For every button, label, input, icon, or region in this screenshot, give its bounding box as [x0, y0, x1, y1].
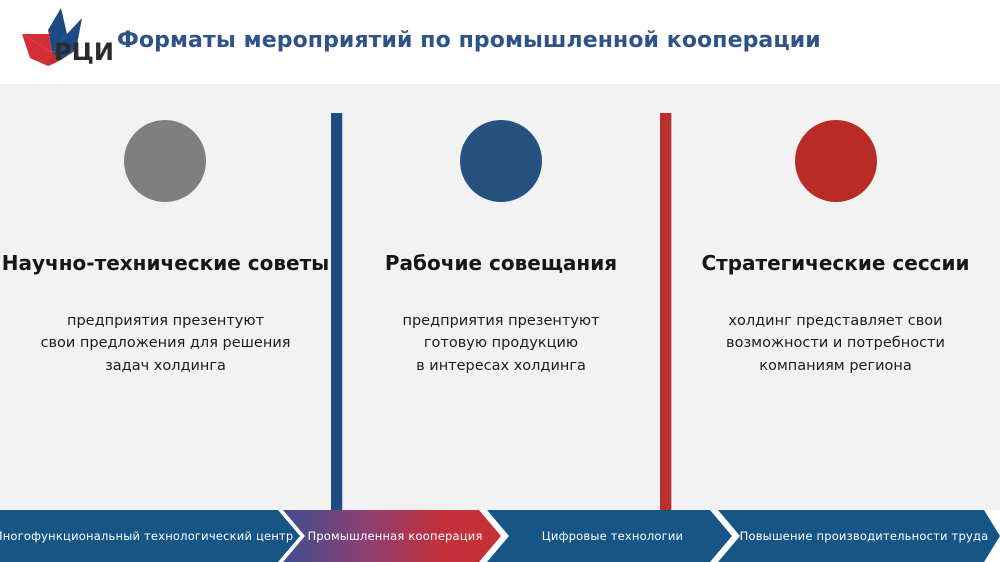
- description-line: в интересах холдинга: [342, 355, 660, 377]
- description-line: возможности и потребности: [671, 332, 1000, 354]
- description-line: компаниям региона: [671, 355, 1000, 377]
- circle-marker-blue: [460, 120, 542, 202]
- nav-chevron-label: Промышленная кооперация: [307, 529, 482, 543]
- description-line: холдинг представляет свои: [671, 310, 1000, 332]
- logo-text-rci: РЦИ: [54, 38, 112, 66]
- column-description: предприятия презентуют готовую продукцию…: [342, 310, 660, 377]
- nav-chevron-multifunctional-tech-center[interactable]: Многофункциональный технологический цент…: [0, 510, 300, 562]
- slide-header: РЦИ Форматы мероприятий по промышленной …: [0, 0, 1000, 84]
- column-description: предприятия презентуют свои предложения …: [0, 310, 331, 377]
- page-title: Форматы мероприятий по промышленной кооп…: [117, 28, 821, 53]
- description-line: свои предложения для решения: [0, 332, 331, 354]
- description-line: задач холдинга: [0, 355, 331, 377]
- nav-chevron-digital-technologies[interactable]: Цифровые технологии: [487, 510, 732, 562]
- description-line: готовую продукцию: [342, 332, 660, 354]
- circle-marker-red: [795, 120, 877, 202]
- column-title: Рабочие совещания: [342, 251, 660, 275]
- column-scientific-technical-councils: Научно-технические советы предприятия пр…: [0, 84, 331, 510]
- column-strategic-sessions: Стратегические сессии холдинг представля…: [671, 84, 1000, 510]
- nav-chevron-industrial-cooperation[interactable]: Промышленная кооперация: [283, 510, 501, 562]
- nav-chevron-label: Повышение производительности труда: [740, 529, 989, 543]
- slide-root: РЦИ Форматы мероприятий по промышленной …: [0, 0, 1000, 562]
- content-panel: Научно-технические советы предприятия пр…: [0, 84, 1000, 510]
- column-title: Стратегические сессии: [671, 251, 1000, 275]
- bottom-chevron-nav: Многофункциональный технологический цент…: [0, 510, 1000, 562]
- description-line: предприятия презентуют: [0, 310, 331, 332]
- nav-chevron-labor-productivity[interactable]: Повышение производительности труда: [718, 510, 1000, 562]
- nav-chevron-label: Многофункциональный технологический цент…: [0, 529, 293, 543]
- column-description: холдинг представляет свои возможности и …: [671, 310, 1000, 377]
- column-title: Научно-технические советы: [0, 251, 331, 275]
- column-working-meetings: Рабочие совещания предприятия презентуют…: [342, 84, 660, 510]
- star-logo-icon: РЦИ: [8, 4, 112, 76]
- circle-marker-gray: [124, 120, 206, 202]
- description-line: предприятия презентуют: [342, 310, 660, 332]
- rci-logo: РЦИ: [8, 4, 112, 76]
- nav-chevron-label: Цифровые технологии: [542, 529, 683, 543]
